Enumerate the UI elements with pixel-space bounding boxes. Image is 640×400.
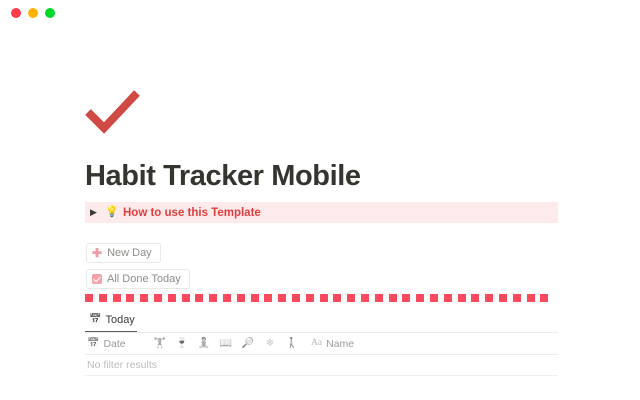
divider-dash [292, 294, 300, 302]
window-titlebar [0, 0, 640, 26]
divider-dash [499, 294, 507, 302]
divider-dash [99, 294, 107, 302]
app-window: Habit Tracker Mobile ▶ 💡 How to use this… [0, 0, 640, 400]
column-header-name[interactable]: Aa Name [303, 333, 354, 355]
open-book-icon: 📖 [220, 339, 232, 349]
divider-dash [154, 294, 162, 302]
column-header-open-book[interactable]: 📖 [215, 333, 237, 355]
divider-dash [347, 294, 355, 302]
column-header-dumbbell[interactable]: 🏋 [149, 333, 171, 355]
table-empty-state: No filter results [85, 355, 558, 376]
toggle-label: How to use this Template [123, 207, 261, 219]
divider-dash [540, 294, 548, 302]
checkbox-checked-icon [92, 274, 102, 284]
all-done-today-button[interactable]: All Done Today [86, 269, 190, 289]
divider-dash [223, 294, 231, 302]
page-title[interactable]: Habit Tracker Mobile [85, 160, 361, 193]
divider-dash [237, 294, 245, 302]
text-property-icon: Aa [311, 339, 322, 349]
column-header-date-label: Date [103, 338, 125, 350]
minimize-window-button[interactable] [28, 8, 38, 18]
new-day-button-label: New Day [107, 247, 152, 259]
divider-dash [320, 294, 328, 302]
divider-dash [85, 294, 93, 302]
column-header-name-label: Name [326, 338, 354, 350]
divider-dash [278, 294, 286, 302]
all-done-today-button-label: All Done Today [107, 273, 181, 285]
snowflake-icon: ❄ [266, 339, 274, 349]
divider-dash [416, 294, 424, 302]
column-header-wine-glass[interactable]: 🍷 [171, 333, 193, 355]
lightbulb-icon: 💡 [104, 207, 120, 218]
dashed-divider [85, 294, 558, 302]
table-empty-message: No filter results [87, 359, 157, 371]
divider-dash [458, 294, 466, 302]
column-header-snowflake[interactable]: ❄ [259, 333, 281, 355]
divider-dash [527, 294, 535, 302]
column-header-meditation[interactable]: 🧘 [193, 333, 215, 355]
page-body: Habit Tracker Mobile ▶ 💡 How to use this… [0, 26, 640, 400]
divider-dash [444, 294, 452, 302]
traffic-light-group [11, 8, 55, 18]
divider-dash [168, 294, 176, 302]
divider-dash [402, 294, 410, 302]
toggle-arrow-icon[interactable]: ▶ [90, 208, 104, 217]
dumbbell-icon: 🏋 [154, 339, 166, 349]
divider-dash [306, 294, 314, 302]
divider-dash [471, 294, 479, 302]
meditation-icon: 🧘 [198, 339, 210, 349]
database-view-tabs: 📅 Today [85, 309, 558, 331]
database-table: 📅 Date 🏋 🍷 🧘 📖 [85, 333, 558, 376]
table-header-row: 📅 Date 🏋 🍷 🧘 📖 [85, 333, 558, 355]
divider-dash [126, 294, 134, 302]
divider-dash [430, 294, 438, 302]
divider-dash [361, 294, 369, 302]
wine-glass-icon: 🍷 [176, 339, 188, 349]
divider-dash [140, 294, 148, 302]
divider-dash [485, 294, 493, 302]
column-header-people-walking[interactable]: 🚶 [281, 333, 303, 355]
tab-today[interactable]: 📅 Today [85, 310, 139, 330]
magnifier-icon: 🔎 [242, 339, 254, 349]
calendar-property-icon: 📅 [87, 339, 99, 349]
how-to-use-toggle[interactable]: ▶ 💡 How to use this Template [85, 202, 558, 223]
divider-dash [513, 294, 521, 302]
checkmark-icon[interactable] [85, 88, 143, 138]
divider-dash [182, 294, 190, 302]
calendar-icon: 📅 [89, 315, 101, 325]
column-header-date[interactable]: 📅 Date [85, 333, 149, 355]
divider-dash [389, 294, 397, 302]
divider-dash [113, 294, 121, 302]
divider-dash [251, 294, 259, 302]
divider-dash [195, 294, 203, 302]
people-walking-icon: 🚶 [286, 339, 298, 349]
divider-dash [264, 294, 272, 302]
divider-dash [375, 294, 383, 302]
close-window-button[interactable] [11, 8, 21, 18]
divider-dash [333, 294, 341, 302]
divider-dash [209, 294, 217, 302]
maximize-window-button[interactable] [45, 8, 55, 18]
new-day-button[interactable]: ✚ New Day [86, 243, 161, 263]
checkmark-icon-svg [85, 88, 143, 138]
column-header-magnifier[interactable]: 🔎 [237, 333, 259, 355]
tab-today-label: Today [105, 314, 134, 326]
plus-icon: ✚ [92, 247, 102, 259]
